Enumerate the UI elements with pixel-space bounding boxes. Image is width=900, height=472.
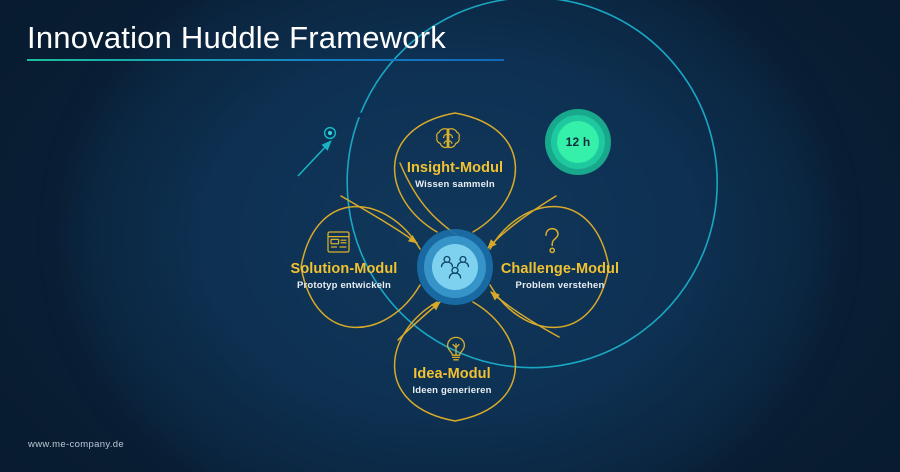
module-idea-subtitle: Ideen generieren bbox=[352, 385, 552, 396]
module-solution[interactable]: Solution-Modul Prototyp entwickeln bbox=[244, 261, 444, 291]
question-mark-icon bbox=[540, 226, 564, 256]
people-group-icon bbox=[438, 252, 472, 282]
module-insight[interactable]: Insight-Modul Wissen sammeln bbox=[355, 160, 555, 190]
process-loop-start-dot bbox=[328, 131, 332, 135]
timer-value: 12 h bbox=[566, 135, 591, 149]
hub-ring-inner bbox=[432, 244, 478, 290]
slide-canvas: Innovation Huddle Framework bbox=[0, 0, 900, 472]
brain-icon bbox=[434, 126, 462, 152]
page-title: Innovation Huddle Framework bbox=[27, 22, 504, 55]
header: Innovation Huddle Framework bbox=[27, 22, 504, 61]
title-underline bbox=[27, 59, 504, 61]
module-idea-title: Idea-Modul bbox=[352, 366, 552, 382]
wireframe-icon bbox=[325, 229, 352, 255]
module-idea[interactable]: Idea-Modul Ideen generieren bbox=[352, 366, 552, 396]
process-loop-arrowhead bbox=[298, 142, 330, 176]
arrow-bottom-left-to-hub bbox=[398, 302, 440, 340]
module-solution-title: Solution-Modul bbox=[244, 261, 444, 277]
module-insight-subtitle: Wissen sammeln bbox=[355, 179, 555, 190]
footer-url[interactable]: www.me-company.de bbox=[28, 439, 124, 450]
timer-ring-inner: 12 h bbox=[557, 121, 599, 163]
lightbulb-icon bbox=[443, 335, 469, 363]
module-solution-subtitle: Prototyp entwickeln bbox=[244, 280, 444, 291]
team-hub[interactable] bbox=[417, 229, 493, 305]
arrow-idea-to-hub bbox=[491, 292, 559, 337]
timer-badge[interactable]: 12 h bbox=[545, 109, 611, 175]
module-insight-title: Insight-Modul bbox=[355, 160, 555, 176]
